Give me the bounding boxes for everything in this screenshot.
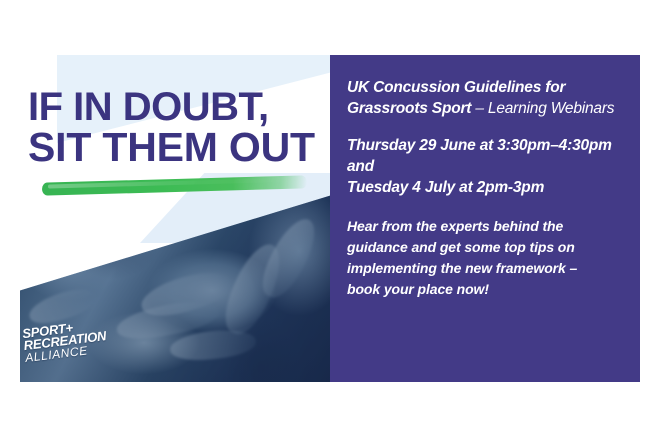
- webinar-title-line-2-bold: Grassroots Sport: [347, 100, 475, 117]
- webinar-description-line-1: Hear from the experts behind the: [347, 216, 620, 237]
- webinar-title-line-2: Grassroots Sport – Learning Webinars: [347, 98, 620, 119]
- promo-banner: IF IN DOUBT, SIT THEM OUT SPORT+ RECREAT…: [20, 55, 640, 382]
- headline-line-2: SIT THEM OUT: [28, 127, 328, 167]
- webinar-description-line-3: implementing the new framework –: [347, 258, 620, 279]
- webinar-title: UK Concussion Guidelines for Grassroots …: [347, 77, 620, 119]
- webinar-date-2: Tuesday 4 July at 2pm-3pm: [347, 177, 620, 198]
- webinar-dates: Thursday 29 June at 3:30pm–4:30pm and Tu…: [347, 135, 620, 198]
- webinar-date-conjunction: and: [347, 156, 620, 177]
- banner-right-panel: UK Concussion Guidelines for Grassroots …: [330, 55, 640, 382]
- webinar-title-line-2-light: – Learning Webinars: [475, 100, 614, 117]
- headline: IF IN DOUBT, SIT THEM OUT: [28, 87, 328, 167]
- webinar-date-1: Thursday 29 June at 3:30pm–4:30pm: [347, 135, 620, 156]
- banner-left-panel: IF IN DOUBT, SIT THEM OUT SPORT+ RECREAT…: [20, 55, 330, 382]
- headline-line-1: IF IN DOUBT,: [28, 87, 328, 127]
- webinar-description: Hear from the experts behind the guidanc…: [347, 216, 620, 300]
- webinar-description-line-2: guidance and get some top tips on: [347, 237, 620, 258]
- webinar-description-line-4: book your place now!: [347, 279, 620, 300]
- webinar-title-line-1: UK Concussion Guidelines for: [347, 77, 620, 98]
